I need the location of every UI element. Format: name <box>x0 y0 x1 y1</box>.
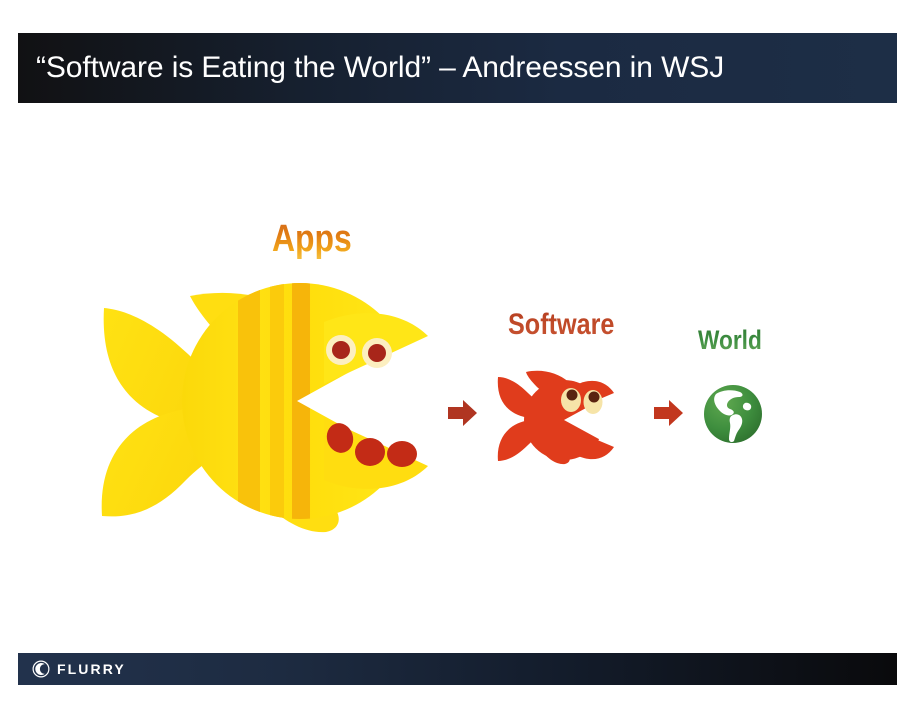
slide-canvas: “Software is Eating the World” – Andrees… <box>0 0 915 707</box>
fish-eye-left <box>326 335 356 365</box>
slide-title-bar: “Software is Eating the World” – Andrees… <box>18 33 897 103</box>
page-title: “Software is Eating the World” – Andrees… <box>18 51 724 85</box>
right-arrow-icon <box>652 398 686 433</box>
red-fish-icon <box>496 363 618 478</box>
stage-label-world: World <box>698 325 762 356</box>
flurry-circle-icon <box>32 660 50 678</box>
red-fish-eye-right <box>584 390 603 414</box>
stage-label-apps: Apps <box>272 218 352 261</box>
stage-label-software: Software <box>508 308 614 342</box>
slide-footer-bar: FLURRY <box>18 653 897 685</box>
red-fish-eye-left <box>561 388 581 412</box>
right-arrow-icon <box>446 398 480 433</box>
food-chain-diagram: Apps Software World <box>0 103 915 653</box>
flurry-logo: FLURRY <box>18 660 126 678</box>
flurry-logo-text: FLURRY <box>57 661 126 677</box>
yellow-striped-fish-icon <box>92 266 452 541</box>
green-globe-icon <box>700 381 766 452</box>
fish-eye-right <box>362 338 392 368</box>
